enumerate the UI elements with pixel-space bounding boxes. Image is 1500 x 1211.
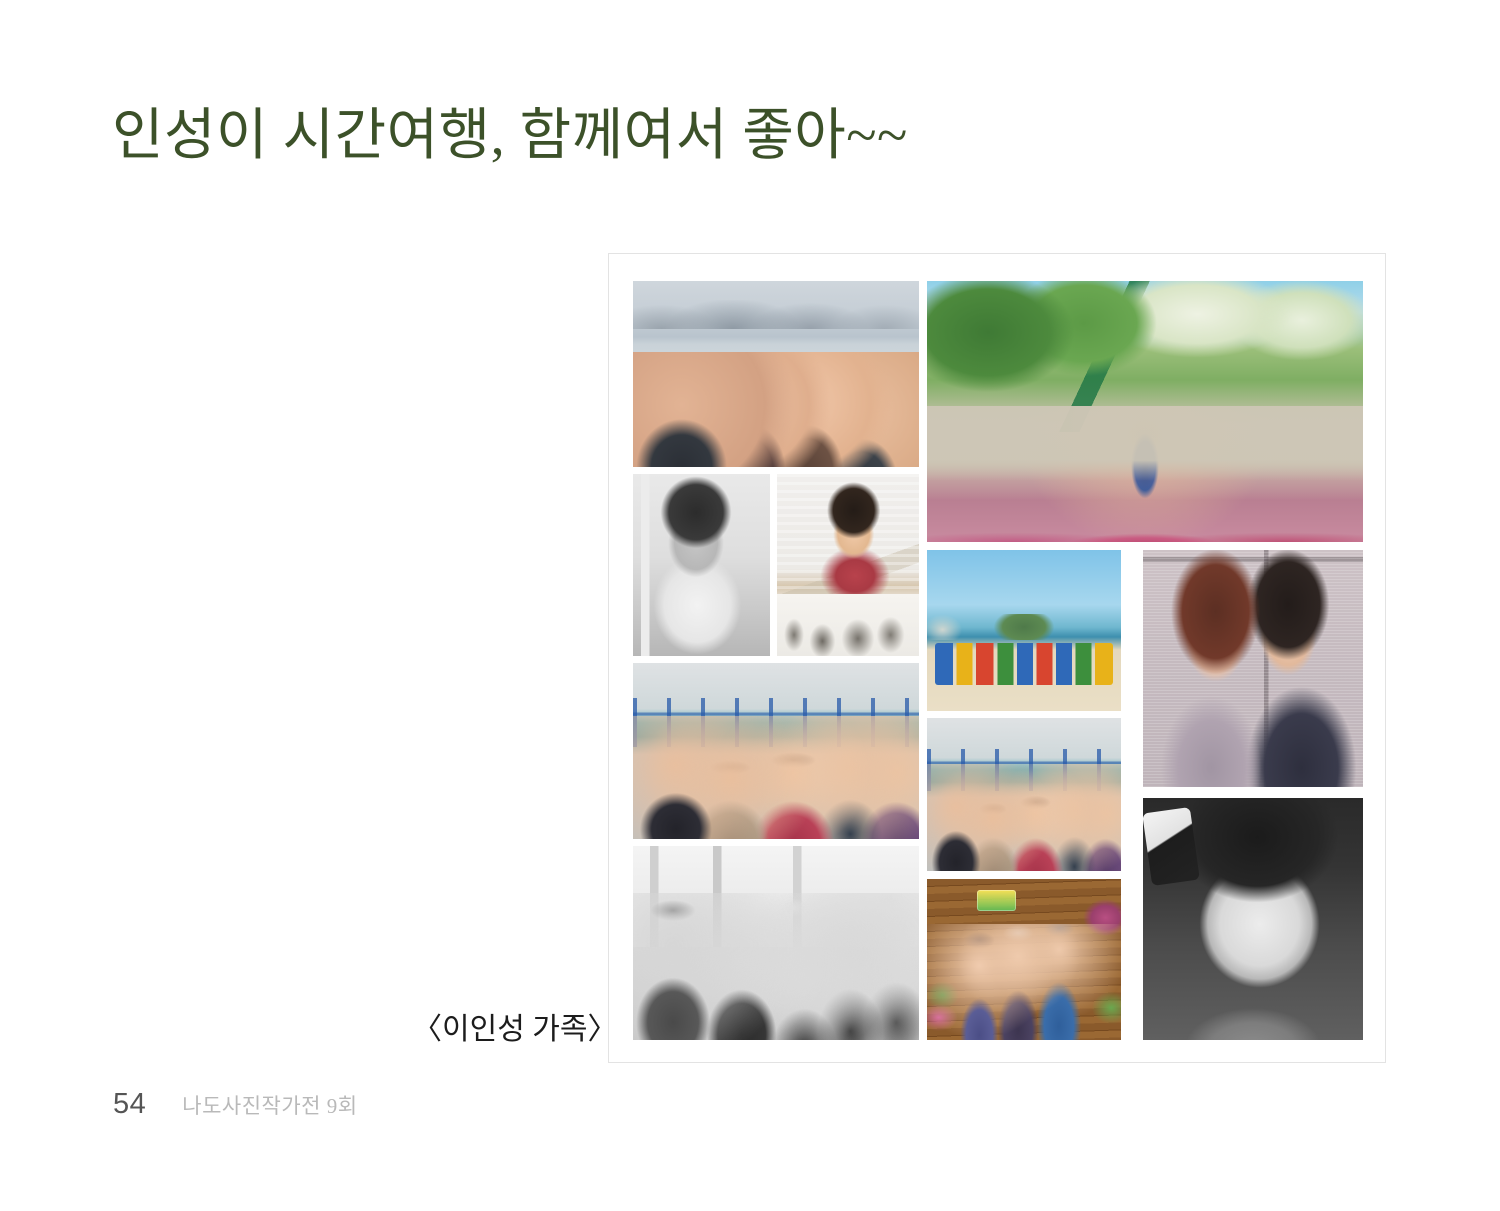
photo-image	[633, 663, 919, 839]
photo-window-group-waving-bw[interactable]: 창가 가족 손 흔드는 흑백 사진	[633, 846, 919, 1040]
footer-page-number: 54	[113, 1088, 146, 1121]
photo-man-under-flower-arch[interactable]: 꽃 아치 아래 팔 벌린 남자	[927, 281, 1363, 542]
photo-bridge-group-selfie[interactable]: 해상 다리 위 가족 단체 셀카	[927, 718, 1121, 871]
collage-caption: 〈이인성 가족〉	[412, 1004, 618, 1048]
photo-image	[927, 281, 1363, 542]
photo-image	[633, 281, 919, 467]
photo-boy-with-clay-sculptures[interactable]: 찰흙 작품과 소년	[777, 474, 919, 656]
photo-image	[927, 550, 1121, 711]
photo-image	[1143, 550, 1363, 787]
photo-image	[633, 846, 919, 1040]
photo-image	[927, 718, 1121, 871]
page-title: 인성이 시간여행, 함께여서 좋아~~	[112, 104, 908, 168]
photo-collage-frame: 가족 5명 호수 앞 셀카 찰흙 만드는 소년 흑백 사진 찰흙 작품과 소년 …	[608, 253, 1386, 1063]
photo-boy-phone-selfie-bw[interactable]: 휴대폰 든 소년 셀카 흑백	[1143, 798, 1363, 1040]
photo-image	[927, 879, 1121, 1040]
cafe-banner-sign	[977, 890, 1016, 911]
photo-teen-siblings-selfie[interactable]: 남매 셀카	[1143, 550, 1363, 787]
photo-image	[1143, 798, 1363, 1040]
photo-lakeside-family-selfie[interactable]: 가족 5명 호수 앞 셀카	[633, 281, 919, 467]
photo-image	[633, 474, 770, 656]
photo-image	[777, 474, 919, 656]
page-footer: 54 나도사진작가전 9회	[113, 1088, 358, 1121]
photo-songjeong-beach-sign[interactable]: SONGJEONG	[927, 550, 1121, 711]
footer-exhibition-title: 나도사진작가전 9회	[182, 1090, 357, 1120]
photo-bridge-group-selfie-left[interactable]: 해상 다리 위 가족 단체 셀카	[633, 663, 919, 839]
photo-wooden-cafe-family[interactable]: 평생 기억할게	[927, 879, 1121, 1040]
photo-boy-making-clay-bw[interactable]: 찰흙 만드는 소년 흑백 사진	[633, 474, 770, 656]
